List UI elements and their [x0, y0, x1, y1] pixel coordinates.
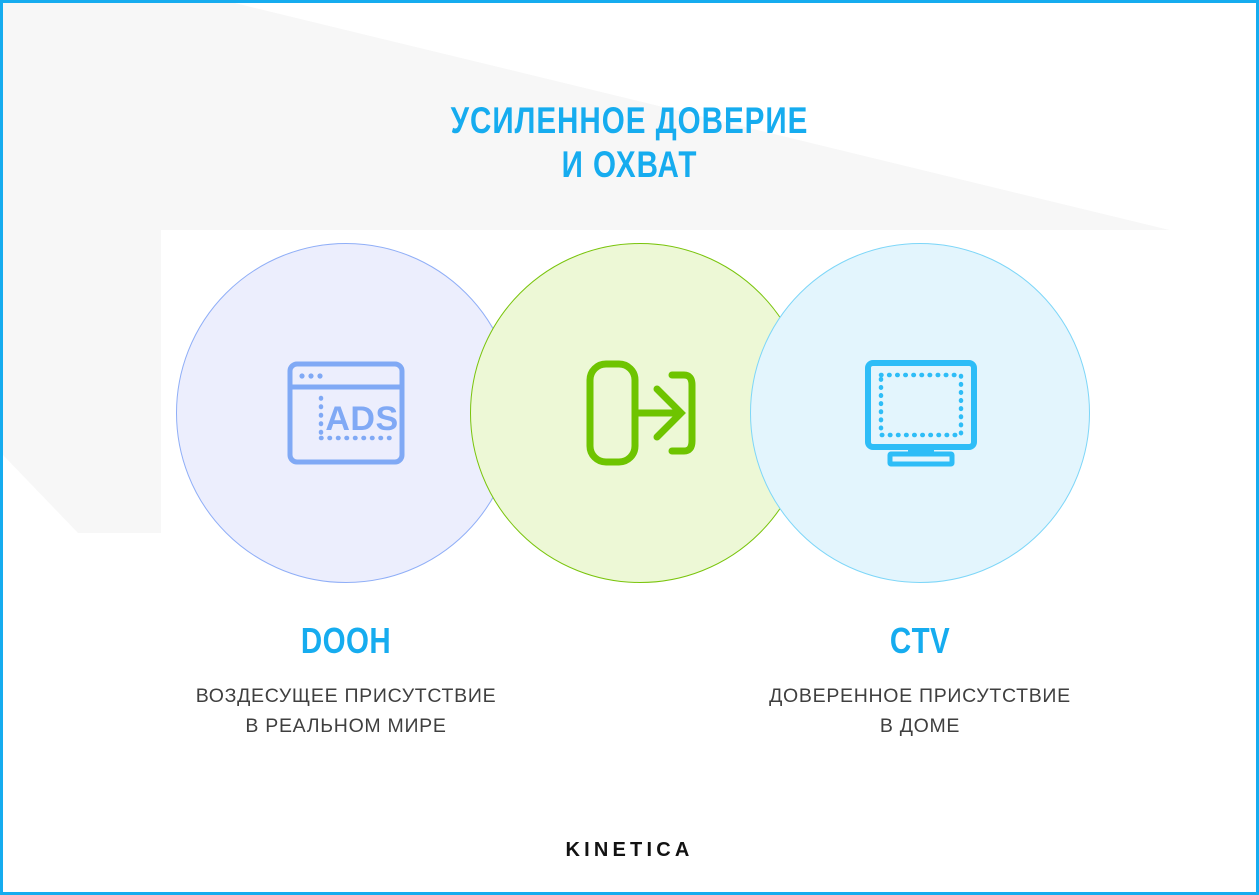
tv-stand-base [890, 454, 952, 464]
transfer-arrow-icon [585, 358, 697, 468]
infographic-canvas: УСИЛЕННОЕ ДОВЕРИЕ И ОХВАТ ADS [0, 0, 1259, 895]
page-title-line-2: И ОХВАТ [128, 143, 1130, 187]
tv-monitor-icon-svg [864, 359, 978, 467]
tv-dotted-inner-border [881, 375, 961, 435]
tv-monitor-icon [864, 359, 978, 467]
dooh-label-description: ВОЗДЕСУЩЕЕ ПРИСУТСТВИЕ В РЕАЛЬНОМ МИРЕ [106, 681, 586, 741]
dooh-label-title: DOOH [149, 621, 543, 661]
browser-dot-3 [317, 373, 322, 378]
ctv-label-group: CTV ДОВЕРЕННОЕ ПРИСУТСТВИЕ В ДОМЕ [680, 621, 1160, 741]
brand-logo: KINETICA [3, 839, 1256, 862]
ads-icon-label: ADS [325, 400, 398, 438]
ads-browser-window-icon-svg: ADS [286, 360, 406, 466]
browser-dot-2 [308, 373, 313, 378]
browser-dot-1 [299, 373, 304, 378]
transfer-arrow-icon-svg [585, 358, 697, 468]
source-panel-shape [590, 364, 635, 462]
page-title: УСИЛЕННОЕ ДОВЕРИЕ И ОХВАТ [3, 99, 1256, 187]
ctv-label-title: CTV [723, 621, 1117, 661]
ads-browser-window-icon: ADS [286, 360, 406, 466]
page-title-line-1: УСИЛЕННОЕ ДОВЕРИЕ [128, 99, 1130, 143]
ctv-label-description: ДОВЕРЕННОЕ ПРИСУТСТВИЕ В ДОМЕ [680, 681, 1160, 741]
dooh-label-group: DOOH ВОЗДЕСУЩЕЕ ПРИСУТСТВИЕ В РЕАЛЬНОМ М… [106, 621, 586, 741]
